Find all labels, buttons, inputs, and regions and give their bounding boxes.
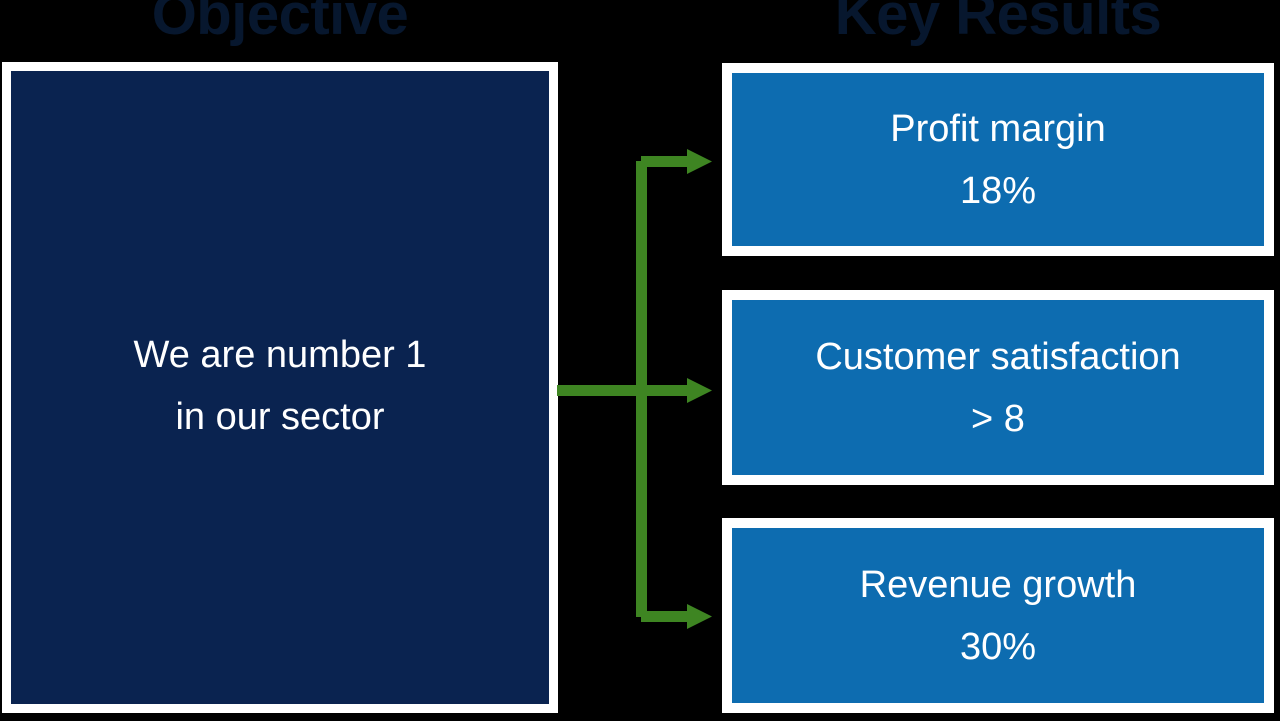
key-result-text: Customer satisfaction > 8 bbox=[815, 326, 1180, 450]
objective-card[interactable]: We are number 1 in our sector bbox=[2, 62, 558, 713]
key-results-column-heading: Key Results bbox=[722, 0, 1274, 44]
connector-trunk bbox=[636, 161, 647, 617]
objective-card-fill: We are number 1 in our sector bbox=[11, 71, 549, 704]
key-result-title: Revenue growth bbox=[860, 554, 1137, 616]
objective-text-line-2: in our sector bbox=[134, 386, 427, 448]
key-result-card-customer-satisfaction[interactable]: Customer satisfaction > 8 bbox=[722, 290, 1274, 485]
key-result-value: > 8 bbox=[815, 388, 1180, 450]
objective-text-line-1: We are number 1 bbox=[134, 324, 427, 386]
connector-stem bbox=[557, 385, 641, 396]
okr-diagram-canvas: Objective Key Results We are number 1 in… bbox=[0, 0, 1280, 721]
key-result-title: Profit margin bbox=[890, 98, 1105, 160]
connector-arrow-2-line bbox=[641, 385, 691, 396]
key-result-card-fill: Revenue growth 30% bbox=[732, 528, 1264, 703]
connector-arrow-3 bbox=[641, 604, 712, 629]
key-result-value: 18% bbox=[890, 160, 1105, 222]
key-result-text: Profit margin 18% bbox=[890, 98, 1105, 222]
connector-arrow-3-head-icon bbox=[687, 604, 712, 629]
key-result-title: Customer satisfaction bbox=[815, 326, 1180, 388]
connector-arrow-2-head-icon bbox=[687, 378, 712, 403]
objective-column-heading: Objective bbox=[0, 0, 560, 44]
key-result-value: 30% bbox=[860, 616, 1137, 678]
key-result-card-revenue-growth[interactable]: Revenue growth 30% bbox=[722, 518, 1274, 713]
connector-arrow-3-line bbox=[641, 611, 691, 622]
connector-arrow-2 bbox=[641, 378, 712, 403]
connector-arrow-1-line bbox=[641, 156, 691, 167]
key-result-card-fill: Customer satisfaction > 8 bbox=[732, 300, 1264, 475]
key-result-text: Revenue growth 30% bbox=[860, 554, 1137, 678]
objective-text: We are number 1 in our sector bbox=[134, 324, 427, 452]
key-result-card-profit-margin[interactable]: Profit margin 18% bbox=[722, 63, 1274, 256]
connector-arrow-1 bbox=[641, 149, 712, 174]
connector-arrow-1-head-icon bbox=[687, 149, 712, 174]
key-result-card-fill: Profit margin 18% bbox=[732, 73, 1264, 246]
